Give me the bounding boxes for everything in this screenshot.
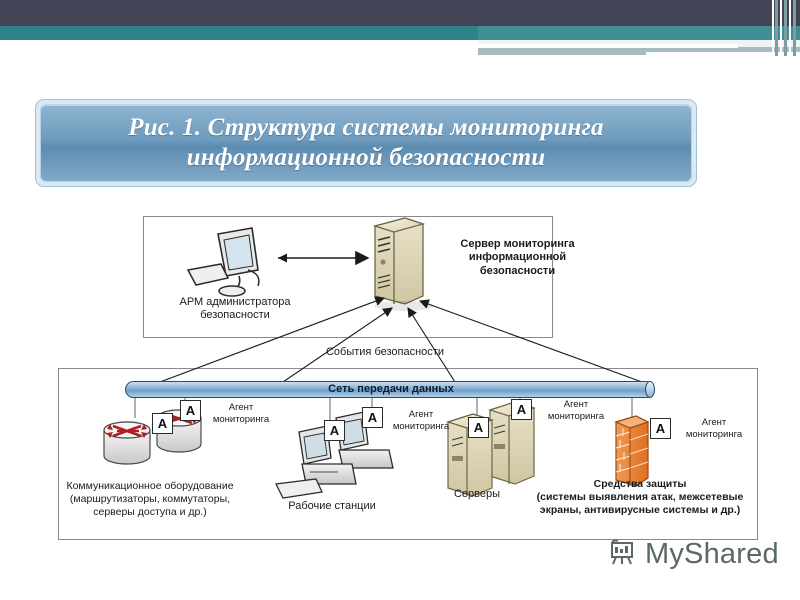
agent-chip-router-2: A bbox=[180, 400, 201, 421]
router-icon-front bbox=[104, 422, 150, 464]
agent-chip-letter: A bbox=[474, 420, 483, 435]
communication-equipment-label-line-2: (маршрутизаторы, коммутаторы, bbox=[70, 493, 230, 505]
network-bus-label: Сеть передачи данных bbox=[126, 382, 656, 399]
agent-chip-letter: A bbox=[330, 423, 339, 438]
monitoring-server-label-line-2: информационной bbox=[469, 251, 566, 263]
agent-chip-letter: A bbox=[368, 410, 377, 425]
admin-workstation-label-line-2: безопасности bbox=[200, 309, 270, 321]
admin-workstation-icon bbox=[188, 228, 259, 296]
monitoring-server-icon bbox=[374, 218, 434, 311]
firewall-icon bbox=[616, 416, 648, 486]
agent-label-servers: Агент мониторинга bbox=[540, 399, 612, 422]
header-vertical-bar-3 bbox=[793, 0, 796, 56]
header-dark-band bbox=[0, 0, 800, 26]
network-bus: Сеть передачи данных bbox=[125, 381, 655, 398]
page-title: Рис. 1. Структура системы мониторинга ин… bbox=[114, 113, 618, 174]
agent-chip-letter: A bbox=[158, 416, 167, 431]
agent-chip-server-1: A bbox=[468, 417, 489, 438]
agent-chip-server-2: A bbox=[511, 399, 532, 420]
protection-tools-label-line-1: Средства защиты bbox=[594, 478, 687, 490]
communication-equipment-label: Коммуникационное оборудование (маршрутиз… bbox=[40, 480, 260, 518]
agent-label-line-1: Агент bbox=[702, 417, 726, 428]
monitoring-server-label-line-3: безопасности bbox=[480, 265, 555, 277]
admin-server-link-arrow bbox=[278, 254, 368, 263]
agent-chip-workstation-1: A bbox=[324, 420, 345, 441]
monitoring-server-label-line-1: Сервер мониторинга bbox=[460, 238, 574, 250]
watermark-text: MyShared bbox=[645, 538, 779, 571]
agent-label-line-1: Агент bbox=[409, 409, 433, 420]
monitoring-server-label: Сервер мониторинга информационной безопа… bbox=[440, 238, 595, 278]
page-title-line-2: информационной безопасности bbox=[187, 144, 546, 171]
page-title-line-1: Рис. 1. Структура системы мониторинга bbox=[128, 114, 604, 141]
agent-label-line-2: мониторинга bbox=[548, 411, 604, 422]
header-vertical-gap-3 bbox=[789, 0, 791, 56]
agent-chip-firewall: A bbox=[650, 418, 671, 439]
agent-chip-router-1: A bbox=[152, 413, 173, 434]
agent-chip-letter: A bbox=[656, 421, 665, 436]
agent-label-firewall: Агент мониторинга bbox=[676, 417, 752, 440]
header-vertical-bar-1 bbox=[775, 0, 778, 56]
system-architecture-diagram: A A A A A A A АРМ администратора безопас… bbox=[0, 196, 800, 546]
presentation-easel-icon bbox=[608, 537, 638, 572]
agent-label-routers: Агент мониторинга bbox=[205, 402, 277, 425]
agent-label-line-1: Агент bbox=[564, 399, 588, 410]
agent-label-line-2: мониторинга bbox=[393, 421, 449, 432]
agent-label-line-2: мониторинга bbox=[686, 429, 742, 440]
header-teal-light-band bbox=[478, 26, 800, 40]
header-vertical-gap-2 bbox=[780, 0, 782, 56]
servers-label: Серверы bbox=[432, 488, 522, 501]
slide-title-banner-inner: Рис. 1. Структура системы мониторинга ин… bbox=[40, 104, 692, 182]
watermark: MyShared bbox=[608, 537, 779, 572]
slide-title-banner: Рис. 1. Структура системы мониторинга ин… bbox=[35, 99, 697, 187]
header-white-strip-1 bbox=[478, 44, 738, 48]
protection-tools-label: Средства защиты (системы выявления атак,… bbox=[518, 478, 762, 516]
protection-tools-label-line-3: экраны, антивирусные системы и др.) bbox=[540, 504, 740, 516]
agent-label-line-1: Агент bbox=[229, 402, 253, 413]
communication-equipment-label-line-1: Коммуникационное оборудование bbox=[66, 480, 233, 492]
agent-label-workstations: Агент мониторинга bbox=[385, 409, 457, 432]
agent-chip-workstation-2: A bbox=[362, 407, 383, 428]
header-vertical-bar-2 bbox=[784, 0, 787, 56]
protection-tools-label-line-2: (системы выявления атак, межсетевые bbox=[537, 491, 744, 503]
admin-workstation-label-line-1: АРМ администратора bbox=[179, 296, 290, 308]
workstations-label: Рабочие станции bbox=[262, 500, 402, 513]
admin-workstation-label: АРМ администратора безопасности bbox=[155, 296, 315, 323]
security-events-label: События безопасности bbox=[275, 346, 495, 359]
header-vertical-gap-1 bbox=[772, 0, 774, 56]
agent-chip-letter: A bbox=[517, 402, 526, 417]
communication-equipment-label-line-3: серверы доступа и др.) bbox=[93, 506, 207, 518]
agent-chip-letter: A bbox=[186, 403, 195, 418]
agent-label-line-2: мониторинга bbox=[213, 414, 269, 425]
